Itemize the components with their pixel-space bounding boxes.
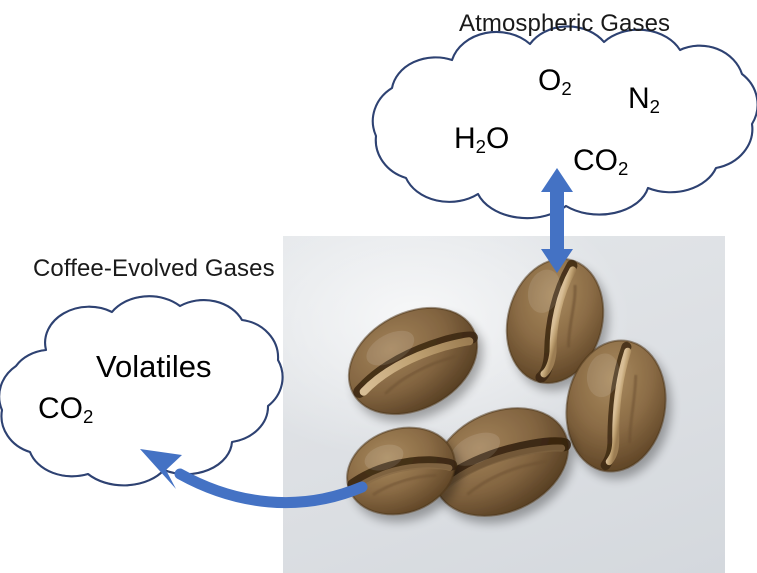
atmospheric-gases-title: Atmospheric Gases (459, 10, 670, 38)
gas-label-o2-sub: 2 (561, 78, 571, 99)
gas-label-h2o-base-post: O (486, 122, 509, 155)
gas-label-co2-evolved-base: CO (38, 392, 83, 425)
gas-label-o2-base: O (538, 64, 561, 97)
gas-label-co2-atmospheric-base: CO (573, 144, 618, 177)
gas-label-n2-base: N (628, 82, 650, 115)
gas-label-n2-sub: 2 (650, 96, 660, 117)
gas-label-o2: O2 (538, 66, 572, 96)
gas-label-h2o-sub: 2 (476, 136, 486, 157)
gas-label-volatiles-base: Volatiles (96, 349, 211, 384)
coffee-evolved-gases-title: Coffee-Evolved Gases (33, 255, 275, 283)
gas-label-co2-atmospheric: CO2 (573, 146, 628, 176)
gas-label-co2-evolved-sub: 2 (83, 406, 93, 427)
coffee-evolved-gases-cloud (0, 296, 283, 485)
gas-label-h2o-base-pre: H (454, 122, 476, 155)
diagram-canvas: Atmospheric Gases Coffee-Evolved Gases O… (0, 0, 757, 573)
evolution-arrow (140, 449, 362, 503)
gas-label-co2-atmospheric-sub: 2 (618, 158, 628, 179)
gas-label-h2o: H2O (454, 124, 509, 154)
gas-label-n2: N2 (628, 84, 660, 114)
gas-label-co2-evolved: CO2 (38, 394, 93, 424)
gas-label-volatiles: Volatiles (96, 351, 211, 382)
